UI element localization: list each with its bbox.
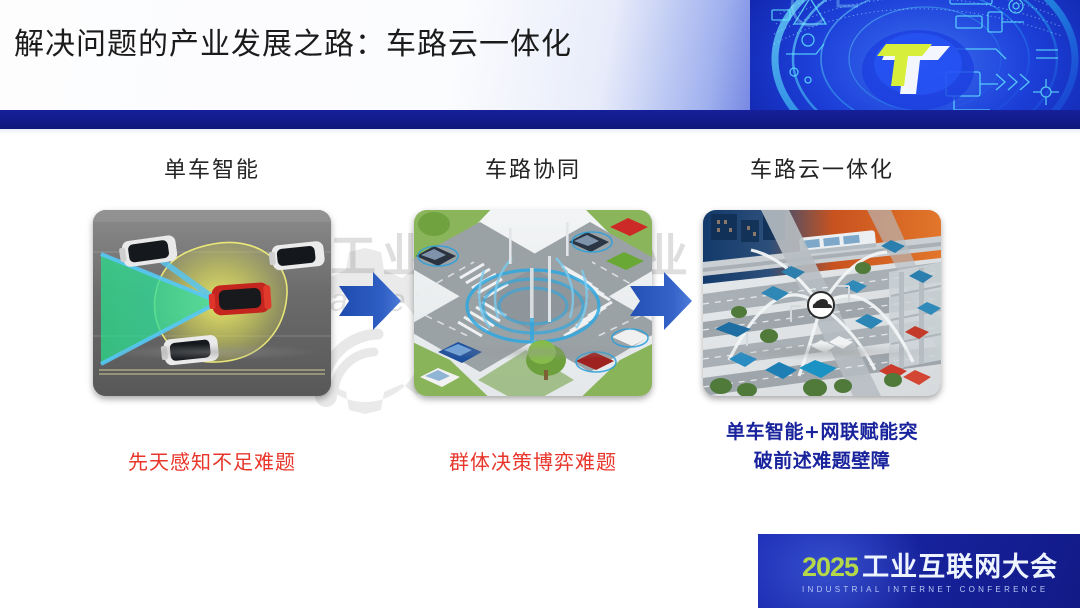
header-divider-bar — [0, 110, 1080, 129]
column-caption: 群体决策博弈难题 — [383, 446, 683, 475]
column-caption: 单车智能+网联赋能突 破前述难题壁障 — [672, 418, 972, 477]
vehicle-road-cooperation-diagram — [414, 210, 652, 396]
conference-name-cn: 工业互联网大会 — [862, 554, 1058, 581]
slide-header: 解决问题的产业发展之路：车路云一体化 — [0, 0, 1080, 112]
presentation-slide: 解决问题的产业发展之路：车路云一体化 工业互联网产业 ance of Indus… — [0, 0, 1080, 608]
panel-reflection — [105, 344, 319, 360]
column-caption: 先天感知不足难题 — [62, 446, 362, 475]
column-title: 车路协同 — [383, 152, 683, 184]
single-vehicle-intelligence-diagram — [93, 210, 331, 396]
page-title: 解决问题的产业发展之路：车路云一体化 — [14, 30, 572, 60]
column-caption-line1: 单车智能+网联赋能突 — [672, 418, 972, 447]
conference-logo-badge: 2025 工业互联网大会 INDUSTRIAL INTERNET CONFERE… — [758, 534, 1080, 608]
panel-reflection — [426, 344, 640, 360]
tech-globe-t-logo-icon — [750, 0, 1080, 112]
column-title: 单车智能 — [62, 152, 362, 184]
conference-logo-row: 2025 工业互联网大会 — [802, 554, 1058, 581]
conference-name-en: INDUSTRIAL INTERNET CONFERENCE — [802, 585, 1049, 594]
panel-reflection — [715, 344, 929, 360]
column-caption-line2: 破前述难题壁障 — [672, 447, 972, 476]
vehicle-road-cloud-integration-diagram — [703, 210, 941, 396]
content-area: 单车智能 — [0, 132, 1080, 532]
column-title: 车路云一体化 — [672, 152, 972, 184]
conference-year: 2025 — [802, 554, 858, 581]
column-single-vehicle-intelligence: 单车智能 — [62, 132, 362, 475]
column-vehicle-road-cloud-integration: 车路云一体化 — [672, 132, 972, 477]
